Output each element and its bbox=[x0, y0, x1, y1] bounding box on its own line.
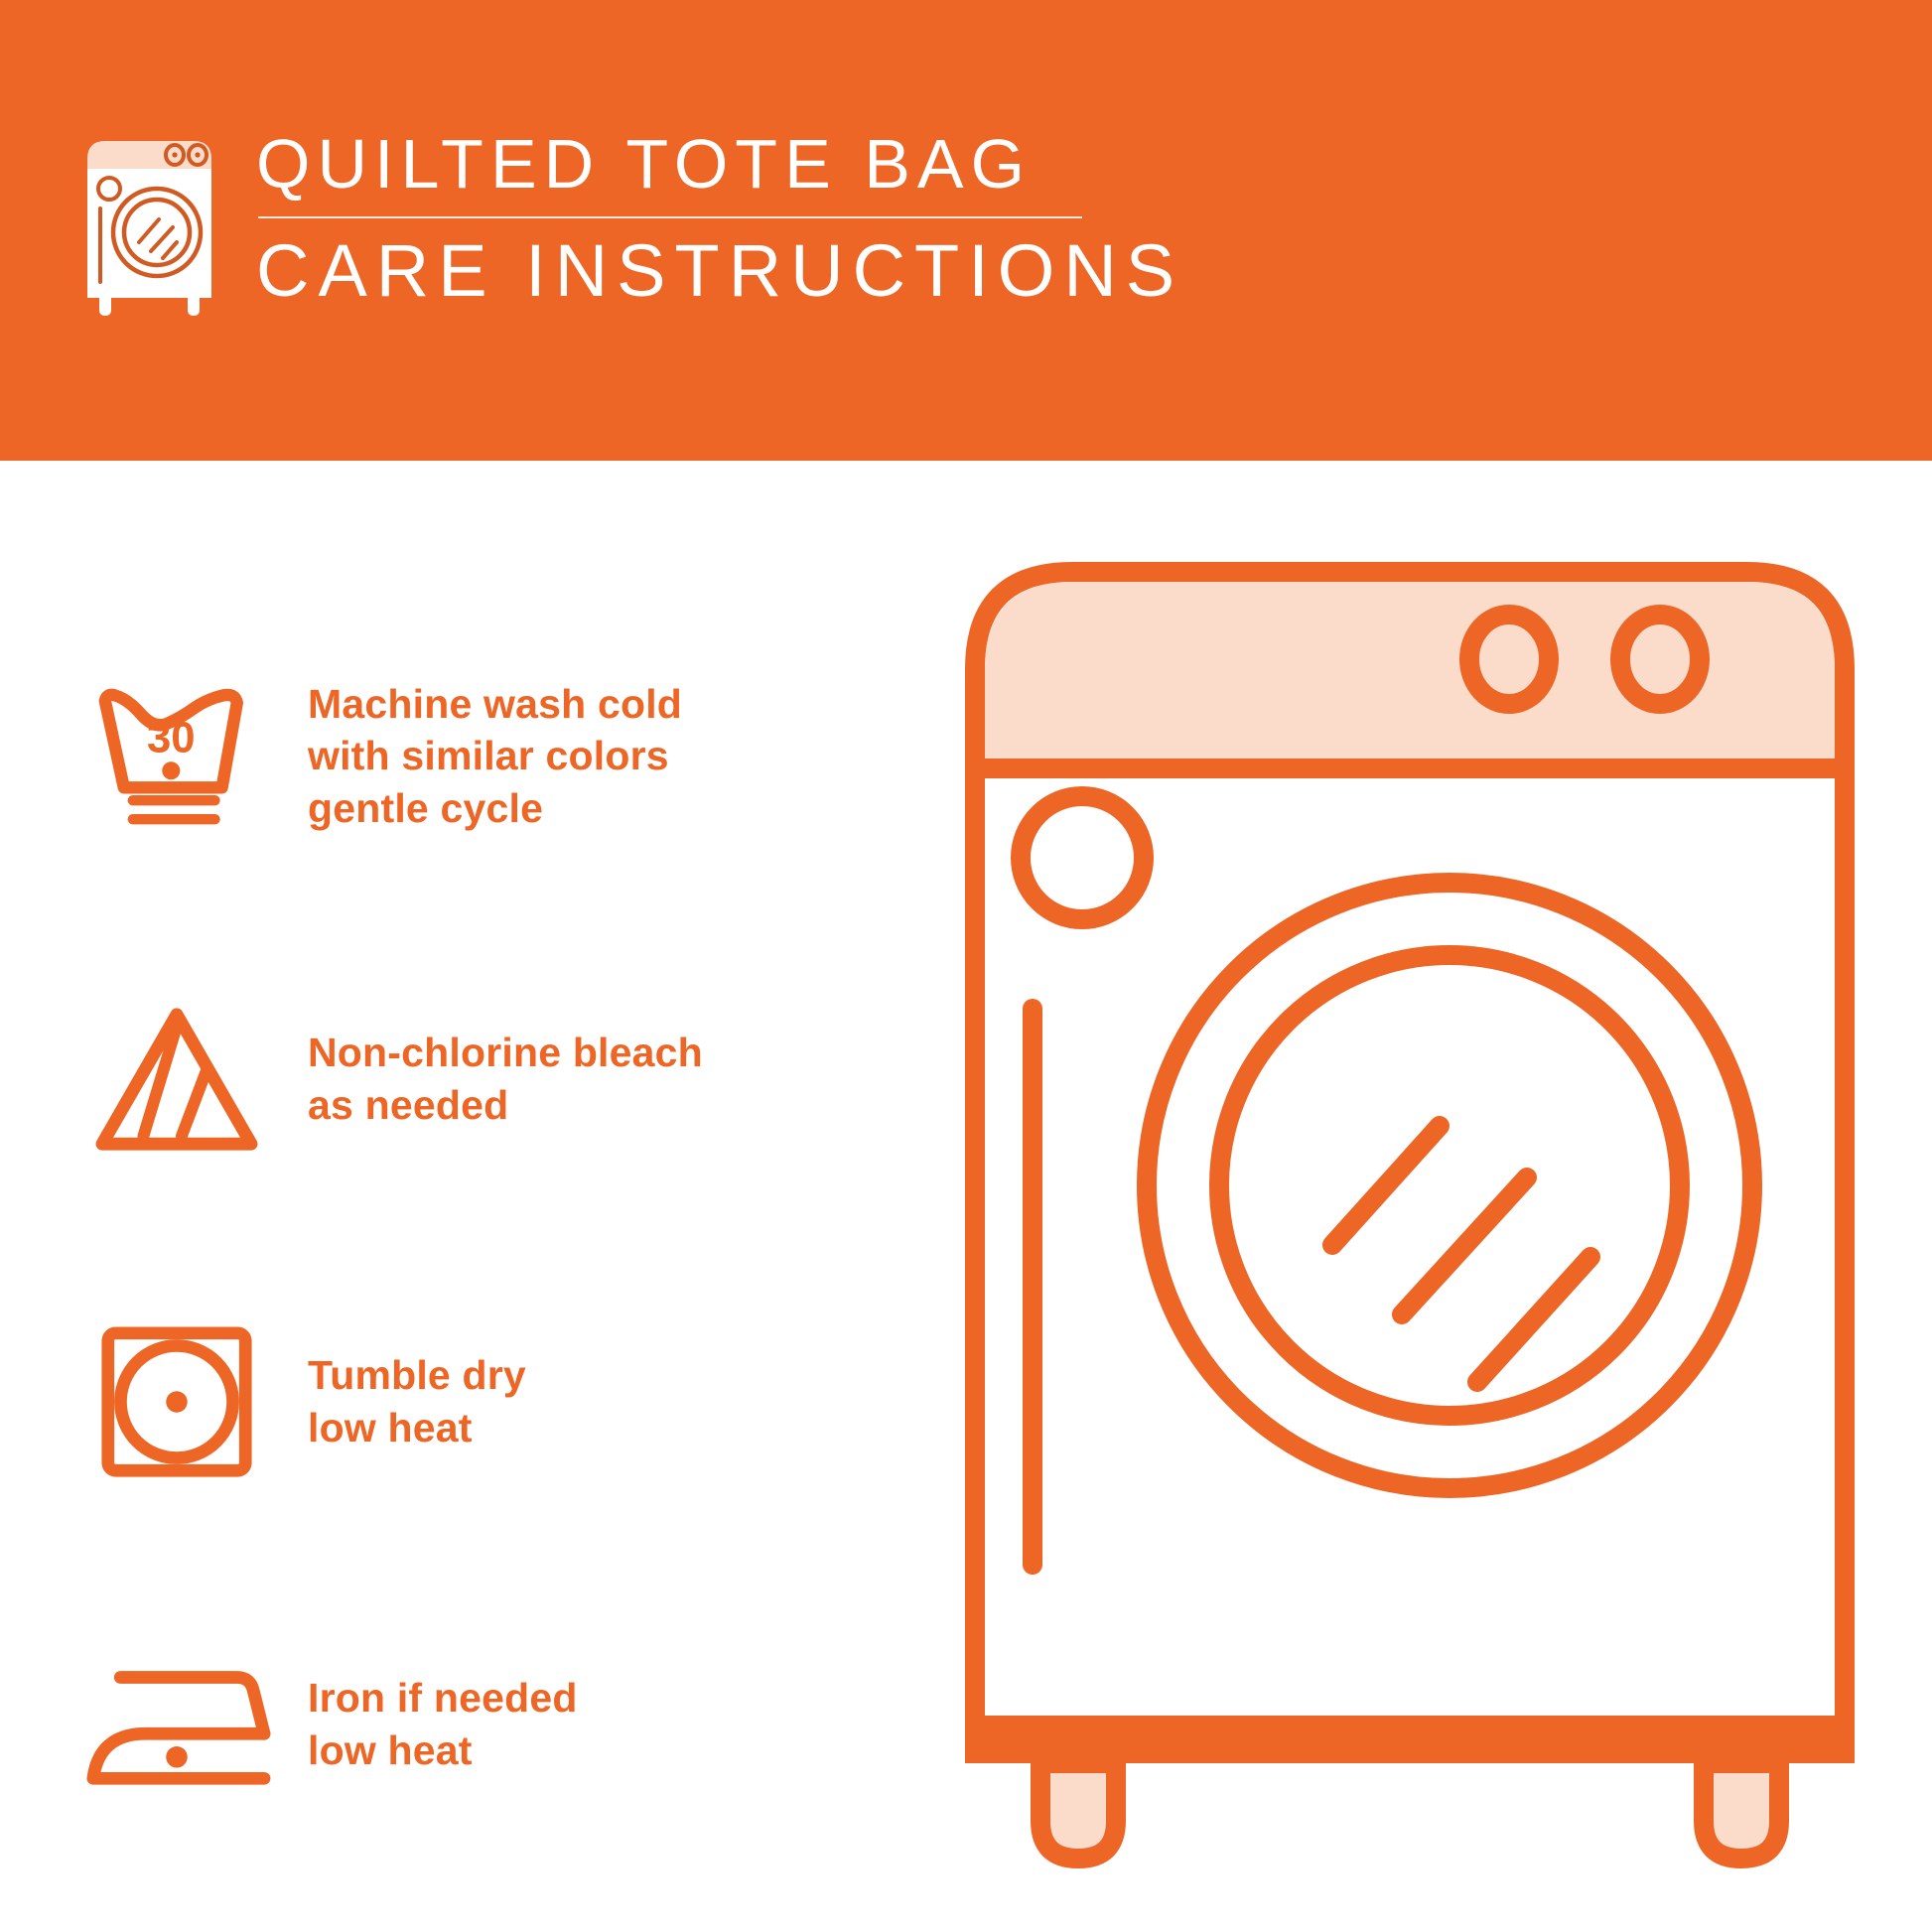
header-content: QUILTED TOTE BAG CARE INSTRUCTIONS bbox=[77, 127, 1183, 319]
non-chlorine-bleach-triangle-icon bbox=[77, 990, 276, 1169]
list-item-label: Tumble dry low heat bbox=[308, 1349, 526, 1453]
list-item: Non-chlorine bleach as needed bbox=[77, 972, 931, 1185]
wash-tub-30-icon: 30 bbox=[77, 667, 276, 846]
header-title-group: QUILTED TOTE BAG CARE INSTRUCTIONS bbox=[256, 127, 1183, 308]
page-subtitle: CARE INSTRUCTIONS bbox=[256, 234, 1183, 308]
content-area: 30 Machine wash cold with similar colors… bbox=[0, 461, 1932, 1932]
header-divider bbox=[258, 216, 1082, 218]
list-item: 30 Machine wash cold with similar colors… bbox=[77, 649, 931, 863]
front-load-washing-machine-illustration bbox=[953, 490, 1866, 1880]
list-item-label: Non-chlorine bleach as needed bbox=[308, 1027, 703, 1131]
header-banner: QUILTED TOTE BAG CARE INSTRUCTIONS bbox=[0, 0, 1932, 461]
iron-low-heat-icon bbox=[77, 1635, 276, 1814]
svg-text:30: 30 bbox=[147, 713, 196, 761]
list-item-label: Iron if needed low heat bbox=[308, 1672, 578, 1776]
list-item-label: Machine wash cold with similar colors ge… bbox=[308, 678, 682, 834]
list-item: Tumble dry low heat bbox=[77, 1295, 931, 1508]
care-instruction-list: 30 Machine wash cold with similar colors… bbox=[77, 649, 931, 1831]
page-title: QUILTED TOTE BAG bbox=[256, 129, 1183, 199]
washing-machine-icon bbox=[77, 135, 226, 319]
tumble-dry-low-icon bbox=[77, 1312, 276, 1491]
list-item: Iron if needed low heat bbox=[77, 1617, 931, 1831]
